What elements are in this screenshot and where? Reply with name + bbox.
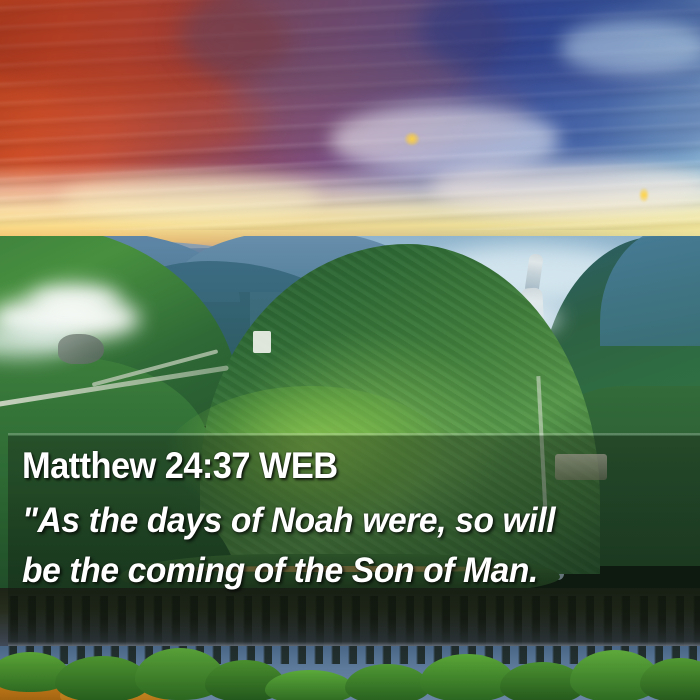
mist-left-2	[30, 284, 120, 316]
rock-outcrop	[58, 334, 104, 364]
sun-glint	[405, 133, 419, 145]
cloud-highlight-lowright	[430, 160, 700, 215]
bush-5	[265, 670, 355, 700]
verse-image-card: Matthew 24:37 WEB "As the days of Noah w…	[0, 0, 700, 700]
cloud-highlight-right	[560, 20, 700, 75]
foreground-vegetation	[0, 646, 700, 700]
cloud-highlight-lowleft	[60, 175, 320, 220]
verse-reference: Matthew 24:37 WEB	[22, 444, 640, 488]
sun-glint-secondary	[640, 188, 648, 202]
verse-line-1: "As the days of Noah were, so will	[22, 496, 659, 546]
white-building	[253, 331, 271, 353]
bush-6	[345, 664, 430, 700]
verse-line-2: be the coming of the Son of Man.	[22, 546, 659, 596]
verse-text: "As the days of Noah were, so will be th…	[22, 496, 659, 596]
verse-overlay-panel: Matthew 24:37 WEB "As the days of Noah w…	[8, 433, 700, 648]
